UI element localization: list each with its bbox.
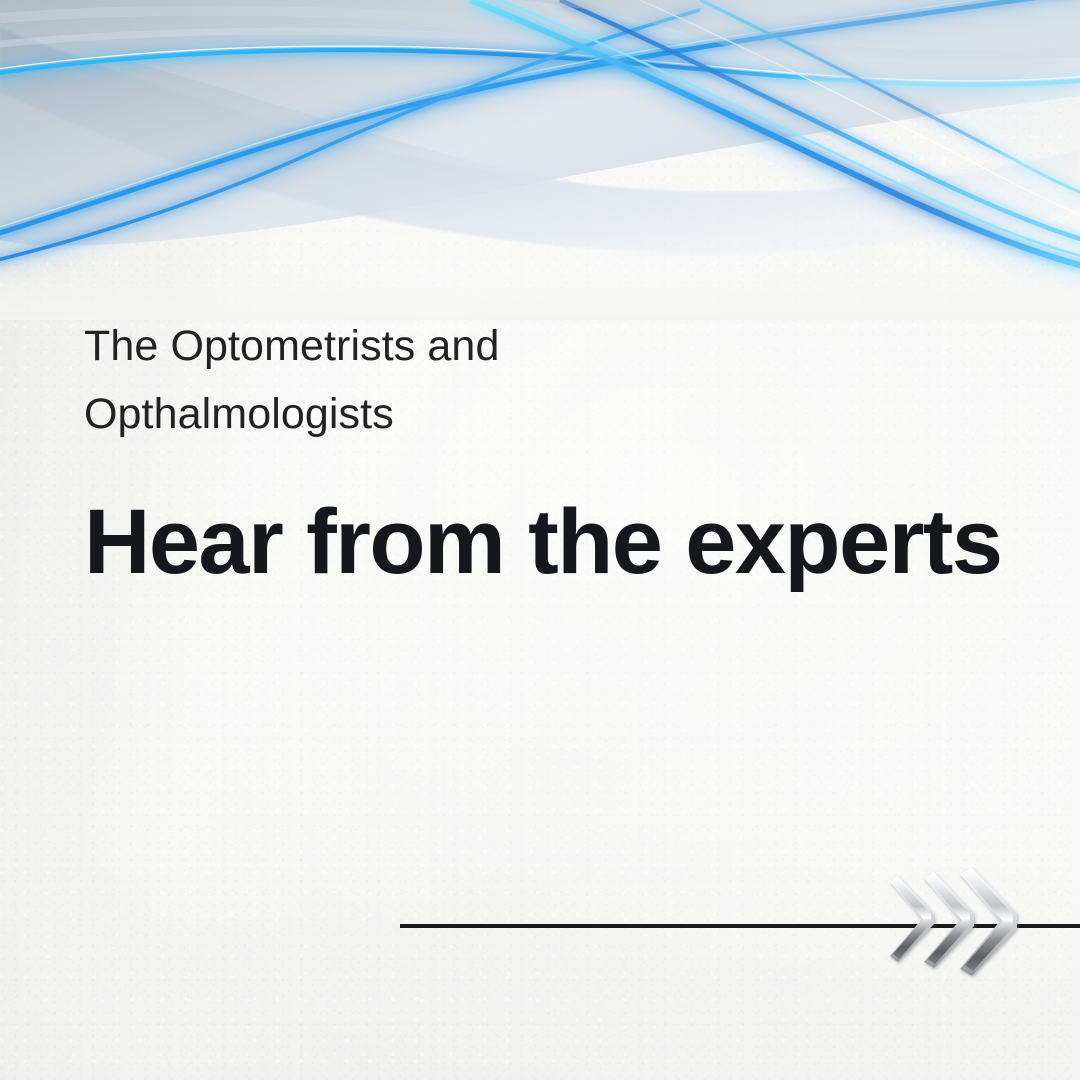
eyebrow-text: The Optometrists and Opthalmologists bbox=[84, 312, 1044, 448]
text-block: The Optometrists and Opthalmologists Hea… bbox=[84, 312, 1044, 590]
header-wave-artwork bbox=[0, 0, 1080, 320]
headline-text: Hear from the experts bbox=[84, 494, 1044, 590]
poster-canvas: The Optometrists and Opthalmologists Hea… bbox=[0, 0, 1080, 1080]
arrow-chevrons bbox=[872, 866, 1032, 986]
wave-bottom-fade bbox=[0, 150, 1080, 320]
chevron-icon-1 bbox=[890, 876, 934, 962]
